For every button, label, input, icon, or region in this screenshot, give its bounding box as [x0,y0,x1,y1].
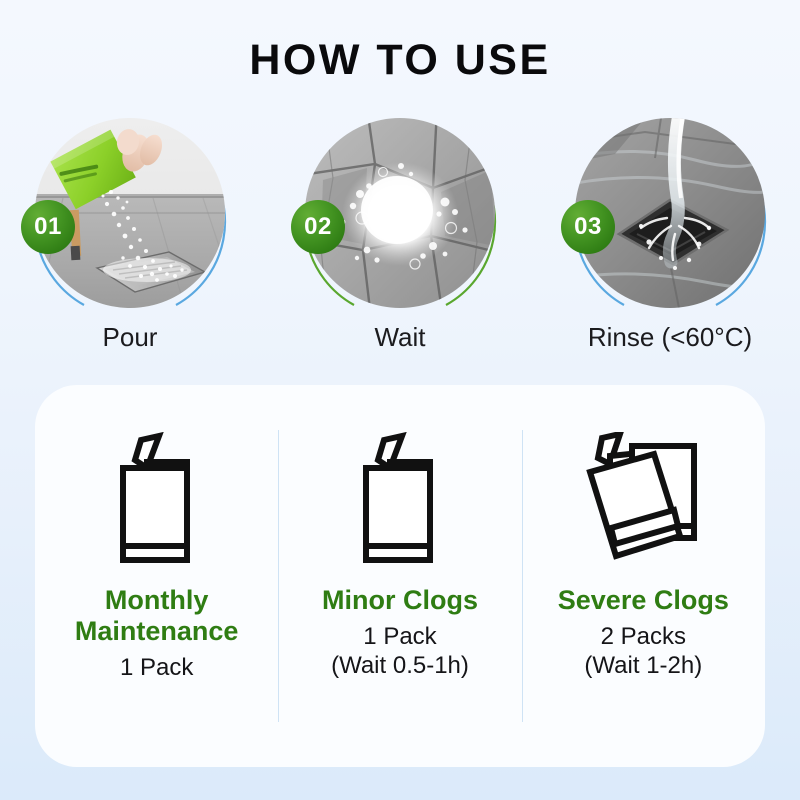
step-02: 02 Wait [280,118,520,353]
dosage-item-minor-clogs: Minor Clogs 1 Pack (Wait 0.5-1h) [278,385,521,767]
dosage-item-monthly-maintenance: Monthly Maintenance 1 Pack [35,385,278,767]
step-01: 01 Pour [10,118,250,353]
step-03-circle: 03 [575,118,765,308]
step-03-number: 03 [561,200,615,254]
dosage-title: Minor Clogs [322,585,478,616]
double-packet-icon [576,427,710,577]
dosage-item-severe-clogs: Severe Clogs 2 Packs (Wait 1-2h) [522,385,765,767]
step-01-number: 01 [21,200,75,254]
step-01-circle: 01 [35,118,225,308]
single-packet-icon [348,427,452,577]
dosage-title: Severe Clogs [558,585,729,616]
step-02-label: Wait [280,322,520,353]
dosage-title: Monthly Maintenance [75,585,239,647]
dosage-detail: 2 Packs (Wait 1-2h) [584,623,702,681]
step-02-number: 02 [291,200,345,254]
step-03-label: Rinse (<60°C) [550,322,790,353]
step-03: 03 Rinse (<60°C) [550,118,790,353]
dosage-detail: 1 Pack [120,654,193,683]
single-packet-icon [105,427,209,577]
step-01-label: Pour [10,322,250,353]
dosage-detail: 1 Pack (Wait 0.5-1h) [331,623,469,681]
page-title: HOW TO USE [0,36,800,85]
how-to-use-steps: 01 Pour [0,118,800,353]
dosage-card: Monthly Maintenance 1 Pack Minor Clogs 1… [35,385,765,767]
step-02-circle: 02 [305,118,495,308]
